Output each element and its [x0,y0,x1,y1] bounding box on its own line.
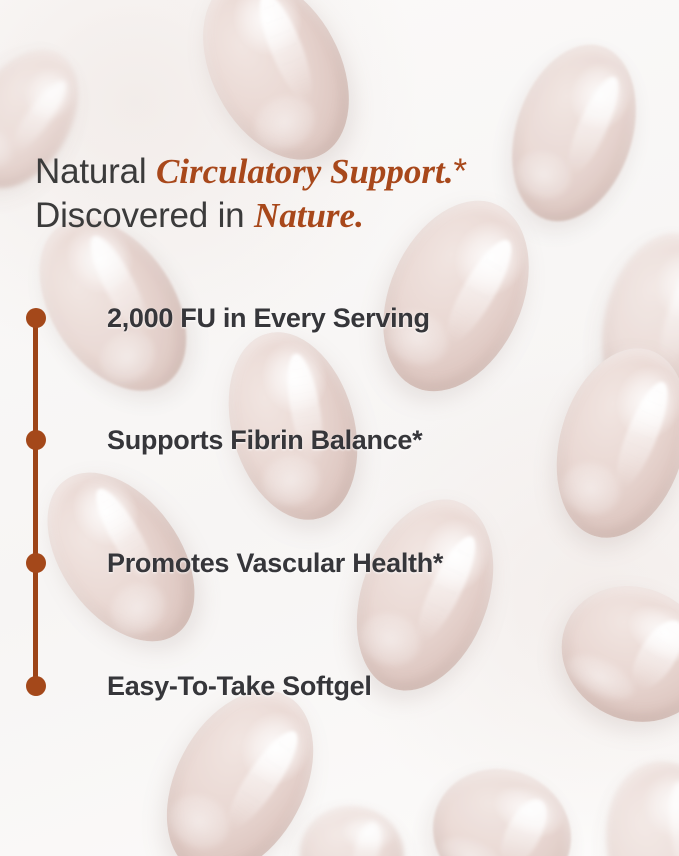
banner-content: Natural Circulatory Support.* Discovered… [0,0,679,856]
feature-label: Promotes Vascular Health* [107,545,443,581]
bullet-dot-icon [26,676,46,696]
feature-label: 2,000 FU in Every Serving [107,300,430,336]
bullet-dot-icon [26,430,46,450]
feature-list: 2,000 FU in Every ServingSupports Fibrin… [0,0,679,856]
product-feature-banner: Natural Circulatory Support.* Discovered… [0,0,679,856]
bullet-dot-icon [26,308,46,328]
feature-label: Easy-To-Take Softgel [107,668,372,704]
timeline-rail [33,318,38,686]
bullet-dot-icon [26,553,46,573]
feature-label: Supports Fibrin Balance* [107,422,422,458]
